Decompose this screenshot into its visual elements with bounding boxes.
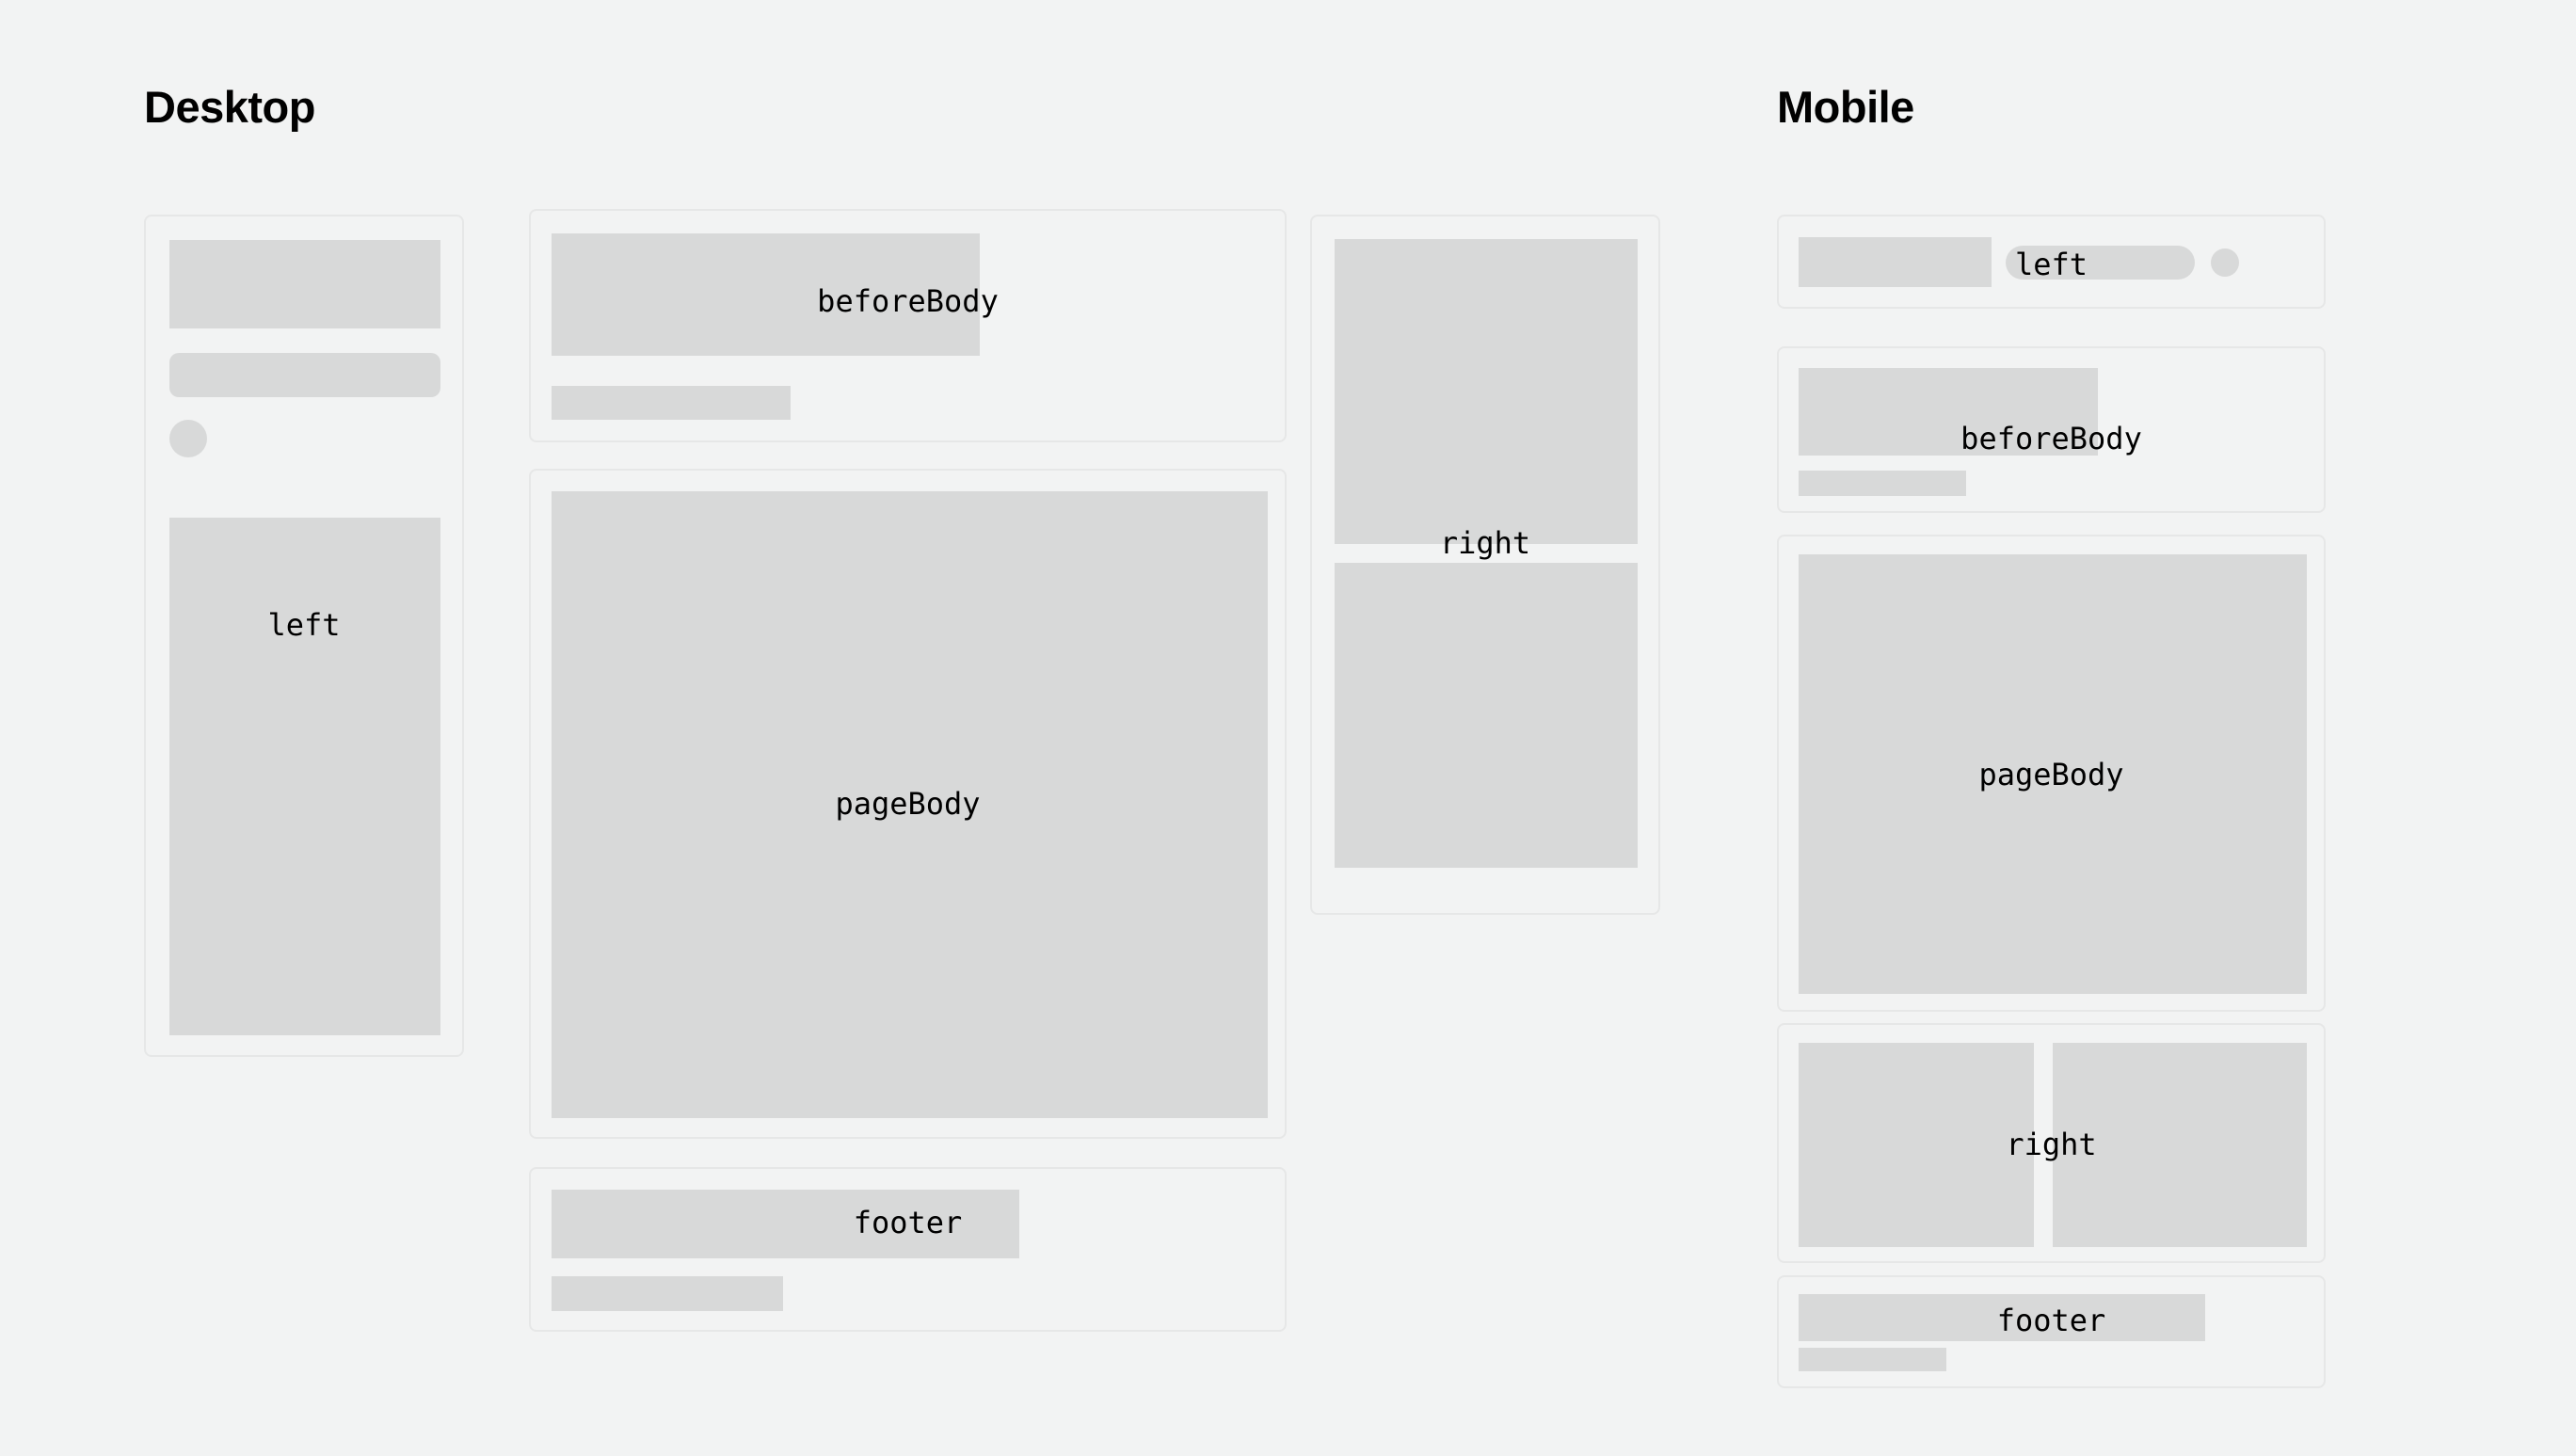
skeleton-block-top <box>1335 239 1638 544</box>
skeleton-block-fill <box>1799 554 2307 994</box>
desktop-section-heading: Desktop <box>144 85 315 129</box>
skeleton-block-left <box>1799 1043 2034 1247</box>
mobile-pagebody-slot-panel[interactable]: pageBody <box>1777 535 2326 1012</box>
mobile-left-slot-panel[interactable]: left <box>1777 215 2326 309</box>
skeleton-block-right <box>2053 1043 2307 1247</box>
desktop-pagebody-slot-panel[interactable]: pageBody <box>529 469 1287 1139</box>
layout-preview-canvas: Desktop left beforeBody pageBody footer … <box>0 0 2576 1456</box>
mobile-right-slot-panel[interactable]: right <box>1777 1023 2326 1263</box>
skeleton-block-rounded-bar <box>169 353 440 397</box>
desktop-left-slot-panel[interactable]: left <box>144 215 464 1057</box>
mobile-beforebody-slot-panel[interactable]: beforeBody <box>1777 346 2326 513</box>
skeleton-block-wide <box>552 1190 1019 1258</box>
mobile-footer-slot-panel[interactable]: footer <box>1777 1275 2326 1388</box>
skeleton-block-fill <box>552 491 1268 1118</box>
skeleton-block-small <box>552 386 791 420</box>
skeleton-block-small <box>1799 471 1966 496</box>
desktop-right-slot-panel[interactable]: right <box>1310 215 1660 915</box>
skeleton-block-small <box>552 1276 783 1311</box>
skeleton-block-small <box>1799 1348 1946 1371</box>
desktop-beforebody-slot-panel[interactable]: beforeBody <box>529 209 1287 442</box>
skeleton-block-tall <box>169 240 440 328</box>
skeleton-block-square <box>1799 237 1992 287</box>
skeleton-block-wide <box>1799 1294 2205 1341</box>
mobile-section-heading: Mobile <box>1777 85 1914 129</box>
skeleton-block-body <box>169 518 440 1035</box>
skeleton-block-pill <box>2006 246 2195 280</box>
skeleton-block-large <box>552 233 980 356</box>
skeleton-block-bottom <box>1335 563 1638 868</box>
desktop-footer-slot-panel[interactable]: footer <box>529 1167 1287 1332</box>
avatar-circle-icon <box>2211 248 2239 277</box>
avatar-circle-icon <box>169 420 207 457</box>
skeleton-block-large <box>1799 368 2098 456</box>
